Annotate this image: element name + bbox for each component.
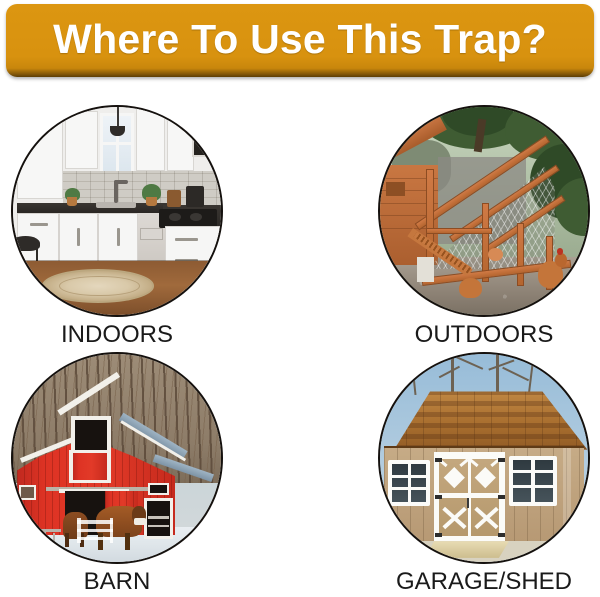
outdoors-circle-image — [378, 105, 590, 317]
usage-cell-indoors: INDOORS — [0, 105, 260, 350]
usage-cell-outdoors: OUTDOORS — [340, 105, 600, 350]
kitchen-scene — [13, 107, 221, 315]
indoors-circle-image — [11, 105, 223, 317]
page-title: Where To Use This Trap? — [53, 19, 547, 60]
indoors-image-wrap — [11, 105, 223, 317]
caption-barn: BARN — [11, 567, 223, 597]
barn-circle-image — [11, 352, 223, 564]
barn-image-wrap — [11, 352, 223, 564]
garage-shed-circle-image — [378, 352, 590, 564]
chicken-coop-scene — [380, 107, 588, 315]
barn-scene — [13, 354, 221, 562]
usage-cell-barn: BARN — [0, 352, 260, 597]
page-title-banner: Where To Use This Trap? — [6, 4, 594, 77]
caption-garage-shed: GARAGE/SHED — [378, 567, 590, 597]
garage-shed-image-wrap — [378, 352, 590, 564]
caption-indoors: INDOORS — [11, 320, 223, 350]
caption-outdoors: OUTDOORS — [378, 320, 590, 350]
shed-scene — [380, 354, 588, 562]
usage-cell-garage-shed: GARAGE/SHED — [340, 352, 600, 597]
outdoors-image-wrap — [378, 105, 590, 317]
